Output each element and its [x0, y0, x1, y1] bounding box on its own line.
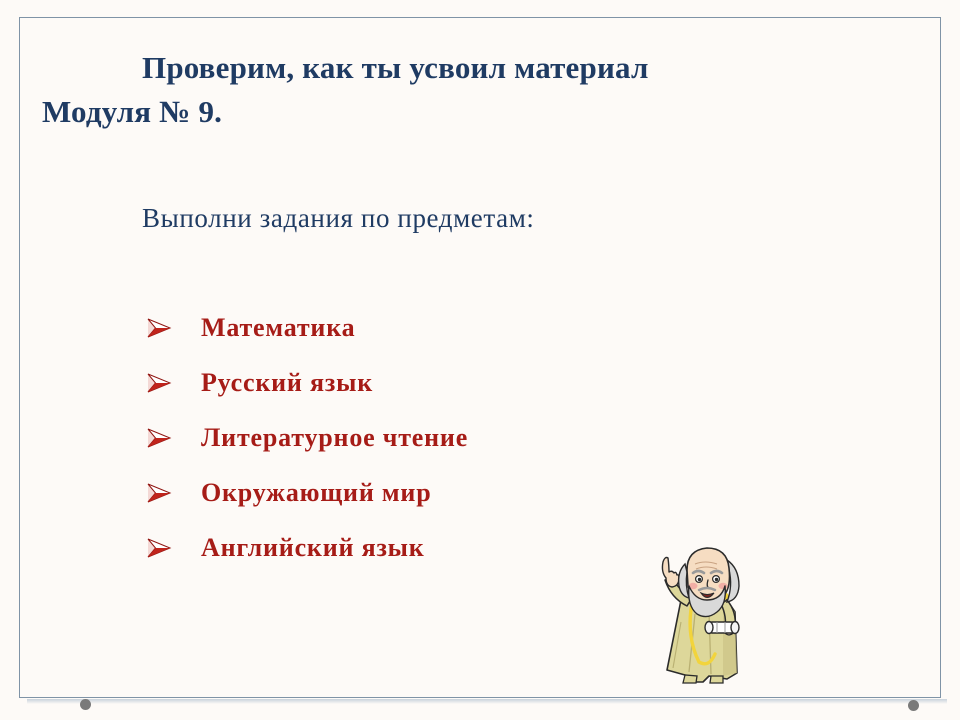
slide-frame: Проверим, как ты усвоил материал Модуля …	[19, 17, 941, 698]
list-item-label: Литературное чтение	[201, 423, 468, 453]
list-item-label: Английский язык	[201, 533, 425, 563]
page-title: Проверим, как ты усвоил материал Модуля …	[42, 46, 960, 178]
arrow-bullet-icon	[146, 425, 172, 451]
list-item[interactable]: Математика	[146, 300, 468, 355]
slide-canvas: Проверим, как ты усвоил материал Модуля …	[0, 0, 960, 720]
title-line-1: Проверим, как ты усвоил материал	[142, 50, 649, 85]
frame-drop-shadow	[27, 699, 947, 704]
list-item[interactable]: Окружающий мир	[146, 465, 468, 520]
list-item[interactable]: Русский язык	[146, 355, 468, 410]
arrow-bullet-icon	[146, 370, 172, 396]
list-item-label: Русский язык	[201, 368, 373, 398]
instruction-text: Выполни задания по предметам:	[142, 203, 535, 234]
arrow-bullet-icon	[146, 480, 172, 506]
title-line-2: Модуля № 9.	[42, 90, 960, 134]
list-item[interactable]: Литературное чтение	[146, 410, 468, 465]
bottom-left-dot	[80, 699, 91, 710]
greek-philosopher-illustration	[651, 542, 771, 690]
arrow-bullet-icon	[146, 535, 172, 561]
bottom-right-dot	[908, 700, 919, 711]
arrow-bullet-icon	[146, 315, 172, 341]
list-item[interactable]: Английский язык	[146, 520, 468, 575]
list-item-label: Окружающий мир	[201, 478, 431, 508]
list-item-label: Математика	[201, 313, 355, 343]
subject-list: Математика Русский язык Литературное чте…	[146, 300, 468, 575]
